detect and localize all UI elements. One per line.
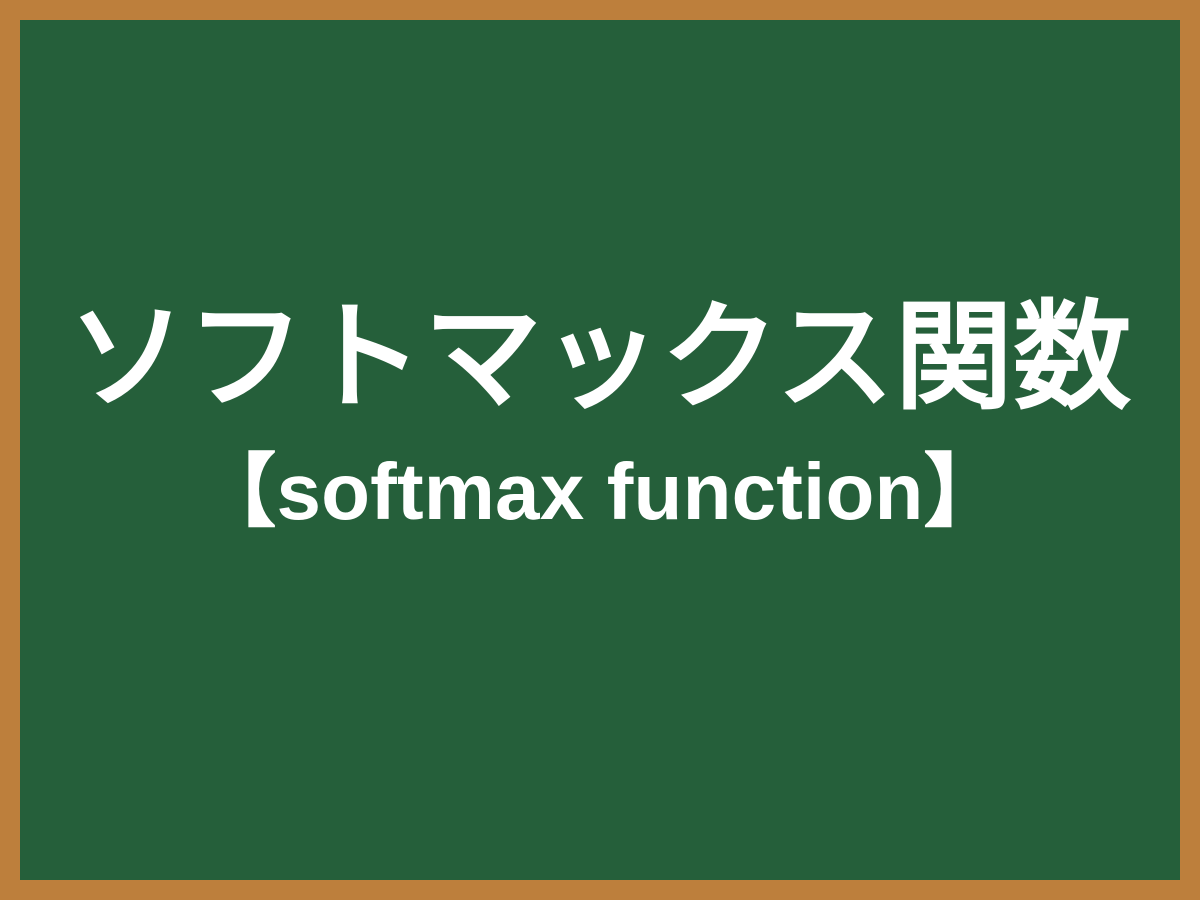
chalkboard-panel: ソフトマックス関数 【softmax function】 bbox=[20, 20, 1180, 880]
title-text-block: ソフトマックス関数 【softmax function】 bbox=[20, 288, 1180, 537]
page-subtitle: 【softmax function】 bbox=[20, 447, 1180, 537]
page-title: ソフトマックス関数 bbox=[20, 288, 1180, 427]
title-card: ソフトマックス関数 【softmax function】 bbox=[0, 0, 1200, 900]
